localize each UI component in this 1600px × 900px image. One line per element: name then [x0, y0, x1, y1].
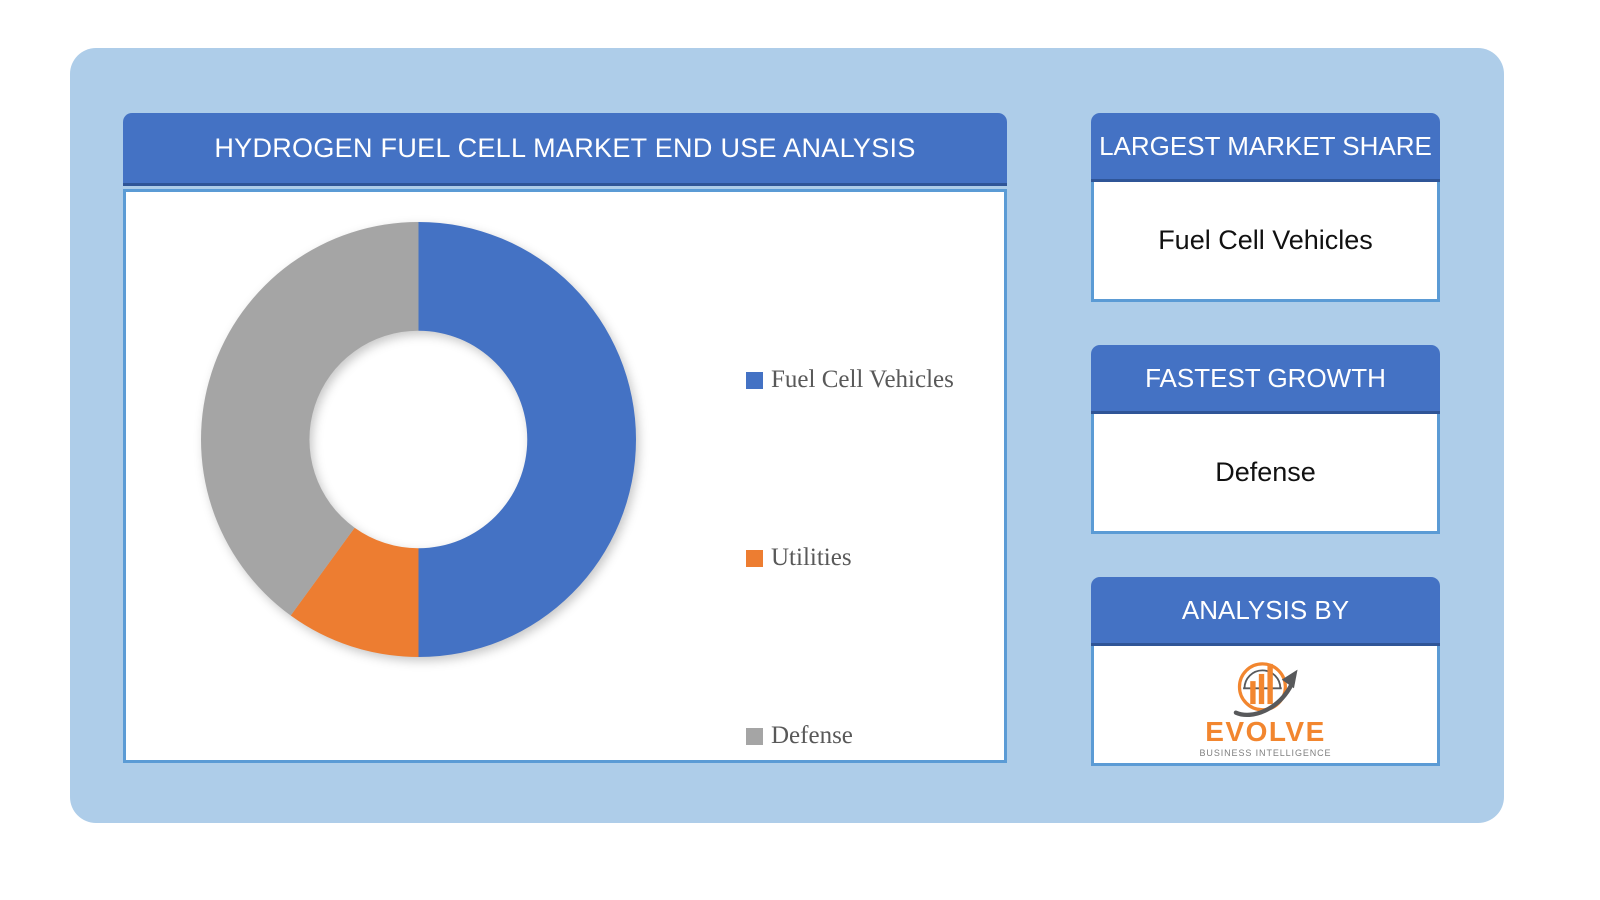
stat-card-value: Fuel Cell Vehicles	[1158, 225, 1373, 256]
square-swatch-icon	[746, 728, 763, 745]
stat-card-title: ANALYSIS BY	[1182, 595, 1349, 626]
evolve-bar-chart-arrow-logo-icon	[1223, 658, 1309, 720]
logo-tagline: BUSINESS INTELLIGENCE	[1200, 749, 1332, 758]
slide-canvas: HYDROGEN FUEL CELL MARKET END USE ANALYS…	[0, 0, 1600, 900]
chart-card-header: HYDROGEN FUEL CELL MARKET END USE ANALYS…	[123, 113, 1007, 186]
chart-card: HYDROGEN FUEL CELL MARKET END USE ANALYS…	[123, 113, 1007, 763]
legend-item-label: Defense	[771, 722, 853, 750]
stat-card-title: LARGEST MARKET SHARE	[1099, 131, 1432, 162]
legend-item-defense[interactable]: Defense	[746, 722, 853, 750]
stat-card-largest-market-share: LARGEST MARKET SHARE Fuel Cell Vehicles	[1091, 113, 1440, 302]
stat-card-header: FASTEST GROWTH	[1091, 345, 1440, 414]
stat-card-value: Defense	[1215, 457, 1316, 488]
stat-card-header: LARGEST MARKET SHARE	[1091, 113, 1440, 182]
page-title: HYDROGEN FUEL CELL MARKET END USE ANALYS…	[214, 133, 915, 164]
donut-chart-svg	[181, 202, 656, 677]
stat-card-body: EVOLVE BUSINESS INTELLIGENCE	[1091, 646, 1440, 766]
stat-card-analysis-by: ANALYSIS BY EVOLVE	[1091, 577, 1440, 766]
square-swatch-icon	[746, 550, 763, 567]
donut-slice-fuel-cell-vehicles[interactable]	[419, 222, 637, 657]
legend-item-utilities[interactable]: Utilities	[746, 544, 852, 572]
square-swatch-icon	[746, 372, 763, 389]
stat-card-body: Fuel Cell Vehicles	[1091, 182, 1440, 302]
stat-card-title: FASTEST GROWTH	[1145, 363, 1386, 394]
evolve-logo: EVOLVE BUSINESS INTELLIGENCE	[1200, 658, 1332, 758]
stat-card-header: ANALYSIS BY	[1091, 577, 1440, 646]
stat-card-body: Defense	[1091, 414, 1440, 534]
chart-card-body: Fuel Cell Vehicles Utilities Defense	[123, 189, 1007, 763]
logo-wordmark: EVOLVE	[1205, 718, 1326, 746]
chart-legend: Fuel Cell Vehicles Utilities Defense	[746, 192, 996, 766]
stat-card-fastest-growth: FASTEST GROWTH Defense	[1091, 345, 1440, 534]
legend-item-fuel-cell-vehicles[interactable]: Fuel Cell Vehicles	[746, 366, 954, 394]
donut-chart	[181, 202, 656, 677]
legend-item-label: Utilities	[771, 544, 852, 572]
legend-item-label: Fuel Cell Vehicles	[771, 366, 954, 394]
